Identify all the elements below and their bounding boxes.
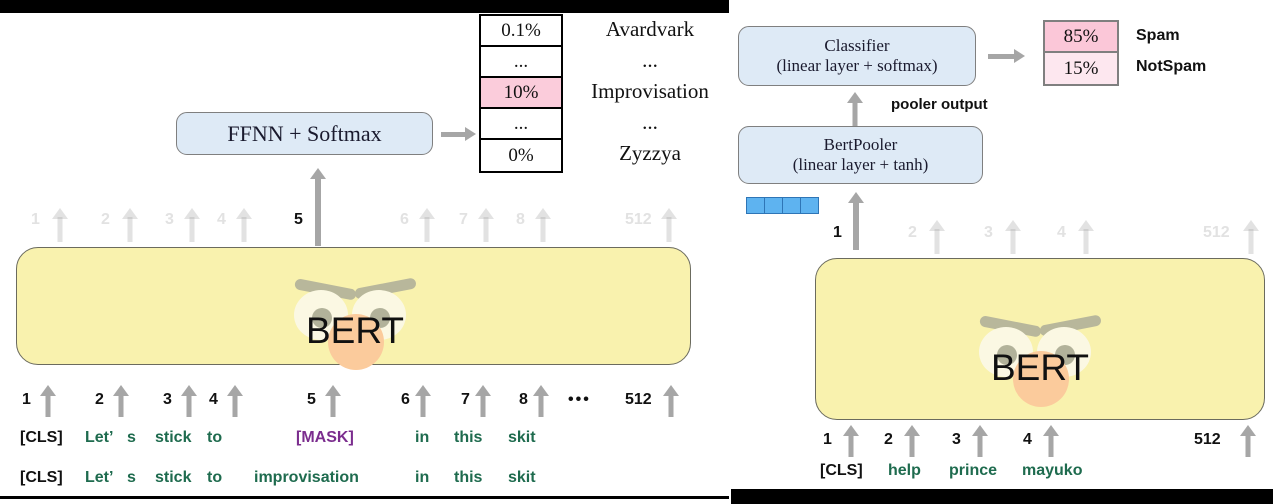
ffnn-softmax-box: FFNN + Softmax bbox=[176, 112, 433, 155]
vector-cell bbox=[801, 198, 818, 213]
token-masked-0: [CLS] bbox=[20, 429, 63, 447]
arrow-upper-6 bbox=[419, 208, 435, 242]
token-original-1: Let’ bbox=[85, 469, 113, 487]
right-upper-position-index-2: 2 bbox=[908, 224, 917, 242]
arrow-right-upper-4 bbox=[1078, 220, 1094, 254]
arrow-lower-1 bbox=[40, 385, 56, 417]
token-masked-5: [MASK] bbox=[296, 429, 354, 447]
cls-output-vector bbox=[746, 197, 819, 214]
lower-position-index-8: 8 bbox=[519, 391, 528, 409]
lower-position-index-4: 4 bbox=[209, 391, 218, 409]
label-notspam: NotSpam bbox=[1136, 51, 1206, 82]
list-item: Zyzzya bbox=[570, 138, 730, 169]
arrow-classifier-to-output bbox=[988, 51, 1028, 61]
arrow-position-5-to-ffnn bbox=[309, 168, 327, 246]
vector-cell bbox=[783, 198, 801, 213]
upper-position-index-1: 1 bbox=[31, 211, 40, 229]
table-row: ... bbox=[481, 47, 561, 78]
token-original-0: [CLS] bbox=[20, 469, 63, 487]
token-original-6: in bbox=[415, 469, 429, 487]
bert-label-right: BERT bbox=[965, 347, 1115, 389]
list-item: Avardvark bbox=[570, 14, 730, 45]
right-upper-position-index-1: 1 bbox=[833, 224, 842, 242]
token-masked-1: Let’ bbox=[85, 429, 113, 447]
bottom-right-black-bar bbox=[731, 489, 1273, 504]
right-lower-position-index-2: 2 bbox=[884, 431, 893, 449]
bert-logo-left: BERT bbox=[280, 258, 430, 368]
classifier-box: Classifier (linear layer + softmax) bbox=[738, 26, 976, 86]
token-original-8: skit bbox=[508, 469, 536, 487]
right-lower-position-index-1: 1 bbox=[823, 431, 832, 449]
ffnn-softmax-label: FFNN + Softmax bbox=[227, 121, 381, 147]
arrow-right-lower-512 bbox=[1240, 425, 1256, 457]
vector-cell bbox=[747, 198, 765, 213]
token-original-3: stick bbox=[155, 469, 191, 487]
arrow-lower-4 bbox=[227, 385, 243, 417]
arrow-upper-3 bbox=[184, 208, 200, 242]
table-row-notspam: 15% bbox=[1045, 53, 1117, 84]
label-spam: Spam bbox=[1136, 20, 1206, 51]
bert-label-left: BERT bbox=[280, 310, 430, 352]
list-item: ... bbox=[570, 107, 730, 138]
table-row: 0.1% bbox=[481, 16, 561, 47]
vector-cell bbox=[765, 198, 783, 213]
table-row: ... bbox=[481, 109, 561, 140]
arrow-upper-8 bbox=[535, 208, 551, 242]
arrow-lower-7 bbox=[475, 385, 491, 417]
right-token-2: prince bbox=[949, 462, 997, 480]
token-original-7: this bbox=[454, 469, 482, 487]
token-original-2: s bbox=[127, 469, 136, 487]
right-lower-position-index-512: 512 bbox=[1194, 431, 1221, 449]
classification-output-table: 85% 15% bbox=[1043, 20, 1119, 86]
classifier-title: Classifier bbox=[824, 36, 889, 56]
table-row-highlighted: 10% bbox=[481, 78, 561, 109]
right-upper-position-index-4: 4 bbox=[1057, 224, 1066, 242]
upper-position-index-8: 8 bbox=[516, 211, 525, 229]
arrow-lower-5 bbox=[325, 385, 341, 417]
token-masked-7: this bbox=[454, 429, 482, 447]
token-original-5: improvisation bbox=[254, 469, 359, 487]
arrow-lower-512 bbox=[663, 385, 679, 417]
lower-position-index-6: 6 bbox=[401, 391, 410, 409]
right-lower-position-index-3: 3 bbox=[952, 431, 961, 449]
right-upper-position-index-512: 512 bbox=[1203, 224, 1230, 242]
upper-position-index-4: 4 bbox=[217, 211, 226, 229]
arrow-right-upper-3 bbox=[1005, 220, 1021, 254]
bertpooler-subtitle: (linear layer + tanh) bbox=[793, 155, 929, 175]
arrow-upper-7 bbox=[478, 208, 494, 242]
lower-position-index-1: 1 bbox=[22, 391, 31, 409]
token-masked-2: s bbox=[127, 429, 136, 447]
bertpooler-box: BertPooler (linear layer + tanh) bbox=[738, 126, 983, 184]
classifier-subtitle: (linear layer + softmax) bbox=[776, 56, 937, 76]
list-item: ... bbox=[570, 45, 730, 76]
right-token-1: help bbox=[888, 462, 921, 480]
arrow-right-lower-3 bbox=[972, 425, 988, 457]
diagram-canvas: 0.1% ... 10% ... 0% Avardvark ... Improv… bbox=[0, 0, 1273, 504]
arrow-upper-1 bbox=[52, 208, 68, 242]
arrow-pooler-to-classifier bbox=[847, 92, 863, 126]
arrow-right-lower-1 bbox=[843, 425, 859, 457]
lower-position-index-5: 5 bbox=[307, 391, 316, 409]
arrow-upper-512 bbox=[661, 208, 677, 242]
upper-position-index-512: 512 bbox=[625, 211, 652, 229]
arrow-position-1-to-pooler bbox=[847, 192, 865, 250]
arrow-lower-3 bbox=[181, 385, 197, 417]
mlm-probability-table: 0.1% ... 10% ... 0% bbox=[479, 14, 563, 173]
upper-position-index-3: 3 bbox=[165, 211, 174, 229]
bottom-left-black-line bbox=[0, 496, 729, 499]
table-row-spam: 85% bbox=[1045, 22, 1117, 53]
upper-position-index-2: 2 bbox=[101, 211, 110, 229]
token-masked-6: in bbox=[415, 429, 429, 447]
right-upper-position-index-3: 3 bbox=[984, 224, 993, 242]
token-masked-8: skit bbox=[508, 429, 536, 447]
lower-position-index-3: 3 bbox=[163, 391, 172, 409]
upper-position-index-7: 7 bbox=[459, 211, 468, 229]
bertpooler-title: BertPooler bbox=[824, 135, 898, 155]
top-black-bar bbox=[0, 0, 729, 13]
list-item: Improvisation bbox=[570, 76, 730, 107]
arrow-right-upper-2 bbox=[929, 220, 945, 254]
bert-logo-right: BERT bbox=[965, 295, 1115, 405]
right-lower-position-index-4: 4 bbox=[1023, 431, 1032, 449]
upper-position-index-6: 6 bbox=[400, 211, 409, 229]
arrow-right-lower-2 bbox=[904, 425, 920, 457]
classification-output-labels: Spam NotSpam bbox=[1136, 20, 1206, 82]
arrow-upper-2 bbox=[122, 208, 138, 242]
arrow-lower-8 bbox=[533, 385, 549, 417]
token-original-4: to bbox=[207, 469, 222, 487]
lower-position-index-512: 512 bbox=[625, 391, 652, 409]
right-token-3: mayuko bbox=[1022, 462, 1082, 480]
token-masked-3: stick bbox=[155, 429, 191, 447]
arrow-lower-2 bbox=[113, 385, 129, 417]
position-ellipsis: ••• bbox=[568, 391, 591, 409]
lower-position-index-7: 7 bbox=[461, 391, 470, 409]
arrow-right-upper-512 bbox=[1243, 220, 1259, 254]
upper-position-index-5: 5 bbox=[294, 211, 303, 229]
right-token-0: [CLS] bbox=[820, 462, 863, 480]
arrow-lower-6 bbox=[415, 385, 431, 417]
arrow-upper-4 bbox=[236, 208, 252, 242]
table-row: 0% bbox=[481, 140, 561, 171]
arrow-right-lower-4 bbox=[1043, 425, 1059, 457]
arrow-ffnn-to-table bbox=[441, 129, 477, 139]
lower-position-index-2: 2 bbox=[95, 391, 104, 409]
mlm-vocabulary-labels: Avardvark ... Improvisation ... Zyzzya bbox=[570, 14, 730, 169]
token-masked-4: to bbox=[207, 429, 222, 447]
pooler-output-label: pooler output bbox=[891, 96, 988, 113]
